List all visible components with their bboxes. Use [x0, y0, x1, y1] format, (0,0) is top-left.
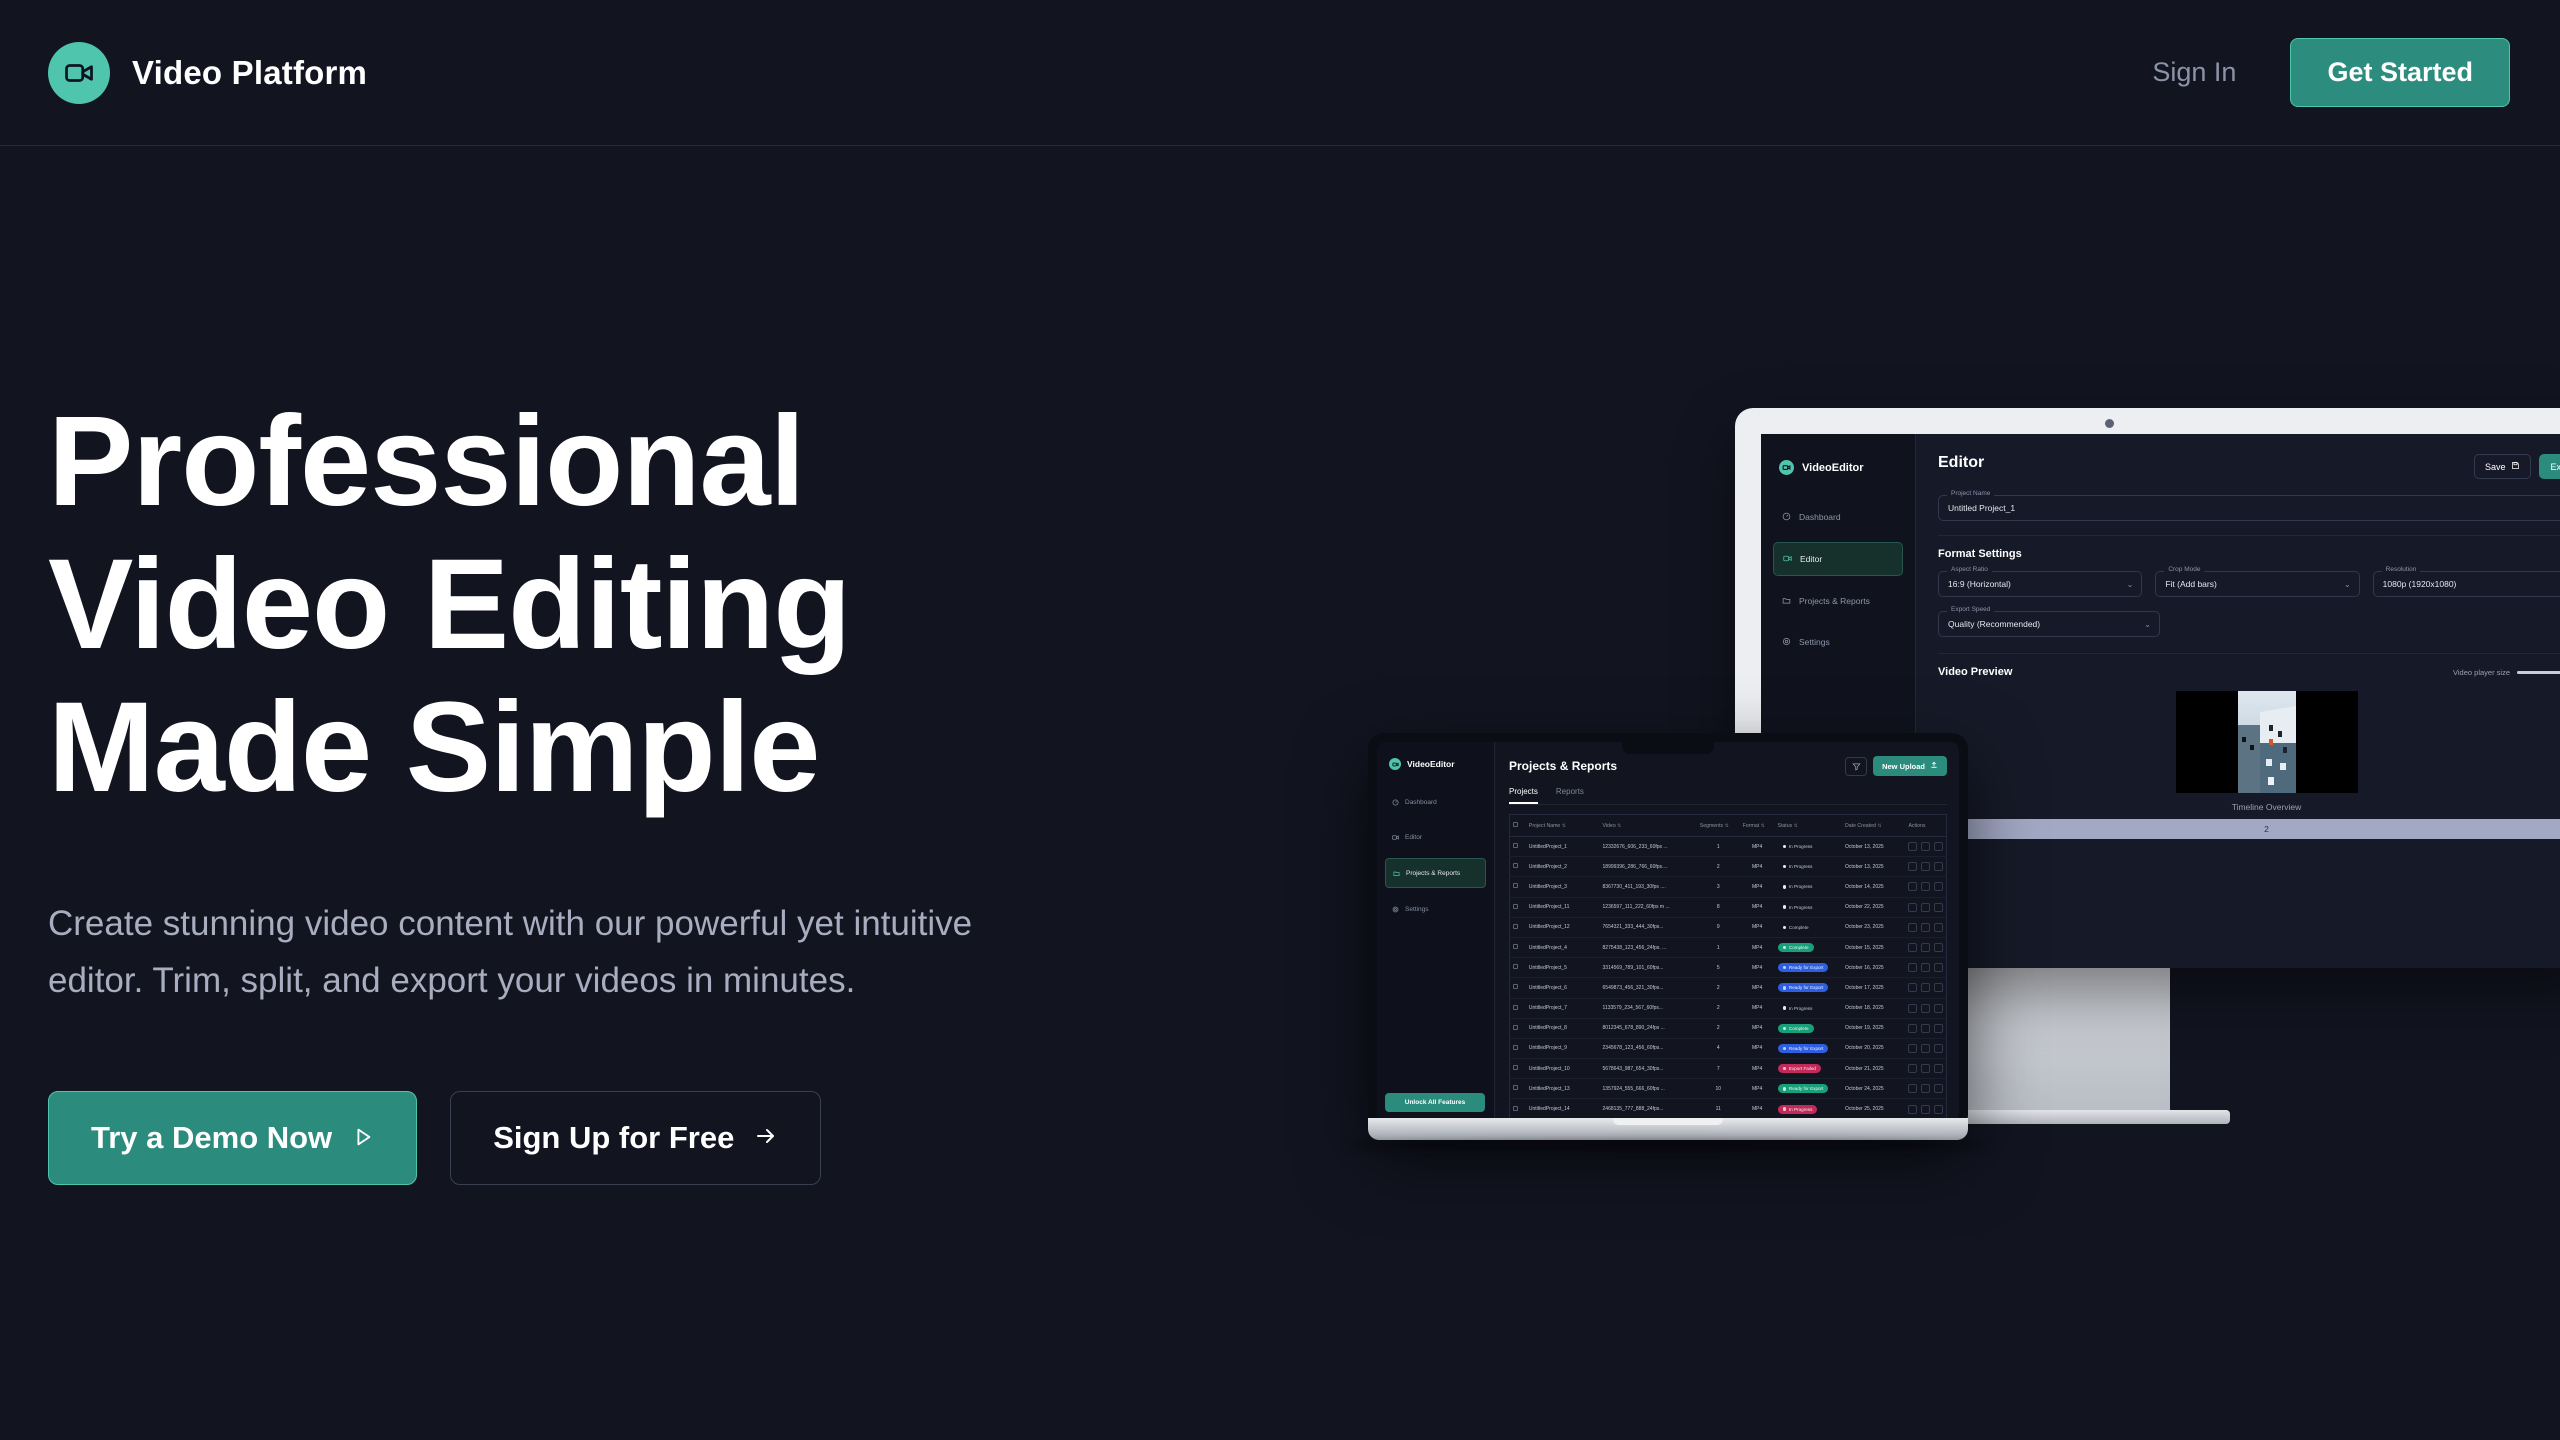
- sign-in-link[interactable]: Sign In: [2152, 57, 2236, 88]
- cell-project-name: UntitledProject_6: [1526, 978, 1600, 998]
- cell-segments: 1: [1697, 937, 1740, 957]
- row-checkbox[interactable]: [1513, 1106, 1518, 1111]
- status-label: In Progress: [1789, 844, 1813, 849]
- timeline-track[interactable]: 2: [1938, 819, 2560, 839]
- delete-icon[interactable]: [1934, 923, 1943, 932]
- edit-icon[interactable]: [1908, 923, 1917, 932]
- edit-icon[interactable]: [1908, 903, 1917, 912]
- floppy-disk-icon: [2511, 461, 2520, 472]
- table-row[interactable]: UntitledProject_92345678_123_456_60fps..…: [1510, 1038, 1947, 1058]
- cell-project-name: UntitledProject_2: [1526, 857, 1600, 877]
- cell-date-created: October 20, 2025: [1842, 1038, 1905, 1058]
- status-label: In Progress: [1789, 1107, 1813, 1112]
- laptop-mockup: VideoEditor Dashboard Editor Projects & …: [1368, 733, 1968, 1131]
- status-badge: In Progress: [1778, 1004, 1818, 1013]
- page-title: Professional Video Editing Made Simple: [48, 390, 1108, 819]
- delete-icon[interactable]: [1934, 862, 1943, 871]
- crop-mode-label: Crop Mode: [2164, 566, 2204, 573]
- video-preview-header: Video Preview Video player size: [1938, 666, 2560, 678]
- cell-format: MP4: [1740, 978, 1775, 998]
- cell-project-name: UntitledProject_12: [1526, 917, 1600, 937]
- project-name-value: Untitled Project_1: [1948, 503, 2015, 513]
- timeline-overview-label: Timeline Overview: [1938, 802, 2560, 812]
- delete-icon[interactable]: [1934, 1064, 1943, 1073]
- cell-format: MP4: [1740, 837, 1775, 857]
- edit-icon[interactable]: [1908, 963, 1917, 972]
- table-row[interactable]: UntitledProject_105678643_987_654_30fps.…: [1510, 1059, 1947, 1079]
- video-preview-title: Video Preview: [1938, 666, 2012, 678]
- column-header[interactable]: Format ⇅: [1740, 815, 1775, 837]
- try-demo-button[interactable]: Try a Demo Now: [48, 1091, 417, 1185]
- column-header[interactable]: Date Created ⇅: [1842, 815, 1905, 837]
- select-all-header[interactable]: [1510, 815, 1526, 837]
- row-checkbox[interactable]: [1513, 924, 1518, 929]
- sidebar-item-editor[interactable]: Editor: [1773, 542, 1903, 576]
- cell-actions[interactable]: [1905, 877, 1946, 897]
- cell-status: Complete: [1775, 917, 1843, 937]
- table-row[interactable]: UntitledProject_71133579_234_567_60fps..…: [1510, 998, 1947, 1018]
- status-label: Complete: [1789, 1026, 1809, 1031]
- player-size-slider[interactable]: [2517, 671, 2560, 674]
- cell-format: MP4: [1740, 877, 1775, 897]
- cell-actions[interactable]: [1905, 978, 1946, 998]
- cell-video: 12332676_606_233_60fps ...: [1600, 837, 1697, 857]
- sidebar-label: Projects & Reports: [1799, 596, 1870, 606]
- new-upload-button[interactable]: New Upload: [1873, 756, 1947, 776]
- video-camera-icon: [1389, 758, 1401, 770]
- resolution-value: 1080p (1920x1080): [2383, 579, 2457, 589]
- row-checkbox-cell[interactable]: [1510, 978, 1526, 998]
- cell-project-name: UntitledProject_4: [1526, 937, 1600, 957]
- try-demo-label: Try a Demo Now: [91, 1120, 332, 1156]
- download-icon[interactable]: [1921, 1064, 1930, 1073]
- cell-segments: 7: [1697, 1059, 1740, 1079]
- cell-project-name: UntitledProject_9: [1526, 1038, 1600, 1058]
- cell-status: In Progress: [1775, 877, 1843, 897]
- row-checkbox-cell[interactable]: [1510, 937, 1526, 957]
- row-checkbox[interactable]: [1513, 1065, 1518, 1070]
- status-label: In Progress: [1789, 884, 1813, 889]
- save-label: Save: [2485, 462, 2506, 472]
- projects-header-actions: New Upload: [1845, 756, 1947, 776]
- cell-format: MP4: [1740, 1099, 1775, 1119]
- row-checkbox-cell[interactable]: [1510, 1099, 1526, 1119]
- cell-actions[interactable]: [1905, 857, 1946, 877]
- sidebar-item-dashboard[interactable]: Dashboard: [1385, 788, 1486, 816]
- gear-icon: [1782, 633, 1791, 651]
- cell-project-name: UntitledProject_3: [1526, 877, 1600, 897]
- video-frame-image: [2238, 691, 2296, 793]
- cell-video: 5678643_987_654_30fps...: [1600, 1059, 1697, 1079]
- sign-up-label: Sign Up for Free: [493, 1120, 734, 1156]
- status-label: In Progress: [1789, 905, 1813, 910]
- cell-format: MP4: [1740, 998, 1775, 1018]
- sort-icon: ⇅: [1725, 823, 1729, 829]
- cell-actions[interactable]: [1905, 917, 1946, 937]
- cell-date-created: October 22, 2025: [1842, 897, 1905, 917]
- row-checkbox-cell[interactable]: [1510, 897, 1526, 917]
- folder-icon: [1782, 592, 1791, 610]
- cell-project-name: UntitledProject_11: [1526, 897, 1600, 917]
- column-header[interactable]: Status ⇅: [1775, 815, 1843, 837]
- cell-actions[interactable]: [1905, 897, 1946, 917]
- cell-status: Complete: [1775, 937, 1843, 957]
- cell-video: 8367730_411_193_30fps ....: [1600, 877, 1697, 897]
- gear-icon: [1392, 900, 1399, 918]
- download-icon[interactable]: [1921, 1084, 1930, 1093]
- sidebar-item-editor[interactable]: Editor: [1385, 823, 1486, 851]
- timeline-value: 2: [2264, 824, 2269, 834]
- row-checkbox[interactable]: [1513, 843, 1518, 848]
- cell-date-created: October 17, 2025: [1842, 978, 1905, 998]
- cell-date-created: October 21, 2025: [1842, 1059, 1905, 1079]
- status-label: Ready for Export: [1789, 965, 1823, 970]
- download-icon[interactable]: [1921, 903, 1930, 912]
- edit-icon[interactable]: [1908, 1064, 1917, 1073]
- cell-format: MP4: [1740, 1079, 1775, 1099]
- cell-video: 3314569_789_101_60fps...: [1600, 958, 1697, 978]
- cell-segments: 5: [1697, 958, 1740, 978]
- project-name-field[interactable]: Project Name Untitled Project_1: [1938, 495, 2560, 521]
- editor-brand-name: VideoEditor: [1802, 462, 1864, 474]
- cell-video: 2468135_777_888_24fps...: [1600, 1099, 1697, 1119]
- cell-format: MP4: [1740, 937, 1775, 957]
- cell-segments: 9: [1697, 917, 1740, 937]
- laptop-app-brand: VideoEditor: [1389, 758, 1486, 770]
- table-row[interactable]: UntitledProject_66549873_456_321_30fps..…: [1510, 978, 1947, 998]
- cell-segments: 2: [1697, 978, 1740, 998]
- table-body: UntitledProject_112332676_606_233_60fps …: [1510, 837, 1947, 1123]
- row-checkbox-cell[interactable]: [1510, 1079, 1526, 1099]
- row-checkbox[interactable]: [1513, 1045, 1518, 1050]
- webcam-dot-icon: [2105, 419, 2114, 428]
- status-badge: In Progress: [1778, 903, 1818, 912]
- sidebar-label: Settings: [1405, 906, 1429, 913]
- row-checkbox[interactable]: [1513, 964, 1518, 969]
- row-checkbox-cell[interactable]: [1510, 837, 1526, 857]
- status-label: Complete: [1789, 925, 1809, 930]
- edit-icon[interactable]: [1908, 1024, 1917, 1033]
- delete-icon[interactable]: [1934, 1004, 1943, 1013]
- aspect-ratio-value: 16:9 (Horizontal): [1948, 579, 2011, 589]
- export-speed-select[interactable]: Export Speed Quality (Recommended) ⌄: [1938, 611, 2160, 637]
- delete-icon[interactable]: [1934, 842, 1943, 851]
- cell-actions[interactable]: [1905, 1018, 1946, 1038]
- laptop-base-notch: [1613, 1118, 1723, 1125]
- cell-status: Export Failed: [1775, 1059, 1843, 1079]
- video-icon: [1783, 550, 1792, 568]
- sidebar-item-dashboard[interactable]: Dashboard: [1773, 501, 1903, 533]
- column-header[interactable]: Project Name ⇅: [1526, 815, 1600, 837]
- laptop-brand-name: VideoEditor: [1407, 759, 1455, 769]
- save-button[interactable]: Save: [2474, 454, 2532, 479]
- row-checkbox-cell[interactable]: [1510, 877, 1526, 897]
- download-icon[interactable]: [1921, 1105, 1930, 1114]
- new-upload-label: New Upload: [1882, 762, 1925, 771]
- cell-video: 6549873_456_321_30fps...: [1600, 978, 1697, 998]
- cell-project-name: UntitledProject_14: [1526, 1099, 1600, 1119]
- cell-segments: 2: [1697, 998, 1740, 1018]
- status-badge: Ready for Export: [1778, 983, 1829, 992]
- video-camera-icon: [1779, 460, 1794, 475]
- delete-icon[interactable]: [1934, 963, 1943, 972]
- export-button[interactable]: Exp: [2539, 454, 2560, 479]
- cell-project-name: UntitledProject_10: [1526, 1059, 1600, 1079]
- delete-icon[interactable]: [1934, 1044, 1943, 1053]
- cell-actions[interactable]: [1905, 1079, 1946, 1099]
- table-row[interactable]: UntitledProject_53314569_789_101_60fps..…: [1510, 958, 1947, 978]
- row-checkbox-cell[interactable]: [1510, 1038, 1526, 1058]
- row-checkbox[interactable]: [1513, 944, 1518, 949]
- export-speed-label: Export Speed: [1947, 606, 1994, 613]
- cell-date-created: October 16, 2025: [1842, 958, 1905, 978]
- row-checkbox[interactable]: [1513, 1085, 1518, 1090]
- download-icon[interactable]: [1921, 882, 1930, 891]
- cell-actions[interactable]: [1905, 1059, 1946, 1079]
- table-row[interactable]: UntitledProject_218999396_286_766_60fps.…: [1510, 857, 1947, 877]
- brand[interactable]: Video Platform: [48, 42, 367, 104]
- sidebar-item-settings[interactable]: Settings: [1385, 895, 1486, 923]
- laptop-base: [1368, 1118, 1968, 1140]
- gauge-icon: [1782, 508, 1791, 526]
- unlock-all-features-button[interactable]: Unlock All Features: [1385, 1093, 1485, 1112]
- cell-project-name: UntitledProject_13: [1526, 1079, 1600, 1099]
- status-badge: Ready for Export: [1778, 1084, 1829, 1093]
- cell-date-created: October 25, 2025: [1842, 1099, 1905, 1119]
- cell-actions[interactable]: [1905, 998, 1946, 1018]
- cell-status: In Progress: [1775, 857, 1843, 877]
- crop-mode-select[interactable]: Crop Mode Fit (Add bars) ⌄: [2155, 571, 2359, 597]
- row-checkbox[interactable]: [1513, 984, 1518, 989]
- sidebar-label: Editor: [1405, 834, 1422, 841]
- edit-icon[interactable]: [1908, 1044, 1917, 1053]
- table-row[interactable]: UntitledProject_142468135_777_888_24fps.…: [1510, 1099, 1947, 1119]
- download-icon[interactable]: [1921, 862, 1930, 871]
- cell-status: Ready for Export: [1775, 1079, 1843, 1099]
- column-header[interactable]: Video ⇅: [1600, 815, 1697, 837]
- row-checkbox[interactable]: [1513, 863, 1518, 868]
- cell-format: MP4: [1740, 857, 1775, 877]
- table-row[interactable]: UntitledProject_131357924_555_666_60fps …: [1510, 1079, 1947, 1099]
- cell-video: 2345678_123_456_60fps...: [1600, 1038, 1697, 1058]
- edit-icon[interactable]: [1908, 1084, 1917, 1093]
- sidebar-label: Dashboard: [1799, 512, 1841, 522]
- download-icon[interactable]: [1921, 842, 1930, 851]
- chevron-down-icon: ⌄: [2344, 580, 2351, 589]
- cell-format: MP4: [1740, 958, 1775, 978]
- column-header[interactable]: Segments ⇅: [1697, 815, 1740, 837]
- cell-date-created: October 18, 2025: [1842, 998, 1905, 1018]
- edit-icon[interactable]: [1908, 983, 1917, 992]
- delete-icon[interactable]: [1934, 1024, 1943, 1033]
- export-speed-value: Quality (Recommended): [1948, 619, 2040, 629]
- chevron-down-icon: ⌄: [2144, 620, 2151, 629]
- sidebar-item-projects-reports[interactable]: Projects & Reports: [1385, 858, 1486, 888]
- download-icon[interactable]: [1921, 923, 1930, 932]
- resolution-select[interactable]: Resolution 1080p (1920x1080) ⌄: [2373, 571, 2560, 597]
- folder-icon: [1393, 864, 1400, 882]
- row-checkbox-cell[interactable]: [1510, 1059, 1526, 1079]
- cell-actions[interactable]: [1905, 1099, 1946, 1119]
- cell-status: In Progress: [1775, 1099, 1843, 1119]
- edit-icon[interactable]: [1908, 882, 1917, 891]
- delete-icon[interactable]: [1934, 903, 1943, 912]
- sort-icon: ⇅: [1794, 823, 1798, 829]
- row-checkbox-cell[interactable]: [1510, 1018, 1526, 1038]
- player-size-control[interactable]: Video player size: [2453, 668, 2560, 677]
- format-settings-title: Format Settings: [1938, 548, 2560, 560]
- aspect-ratio-label: Aspect Ratio: [1947, 566, 1992, 573]
- sort-icon: ⇅: [1877, 823, 1881, 829]
- cell-date-created: October 13, 2025: [1842, 837, 1905, 857]
- cell-video: 1236597_111_222_60fps m ...: [1600, 897, 1697, 917]
- delete-icon[interactable]: [1934, 1105, 1943, 1114]
- site-header: Video Platform Sign In Get Started: [0, 0, 2560, 146]
- table-row[interactable]: UntitledProject_48275438_123_456_24fps. …: [1510, 937, 1947, 957]
- video-icon: [1392, 828, 1399, 846]
- row-checkbox[interactable]: [1513, 1005, 1518, 1010]
- table-row[interactable]: UntitledProject_38367730_411_193_30fps .…: [1510, 877, 1947, 897]
- sort-icon: ⇅: [1761, 823, 1765, 829]
- delete-icon[interactable]: [1934, 882, 1943, 891]
- cell-format: MP4: [1740, 1038, 1775, 1058]
- cell-actions[interactable]: [1905, 1038, 1946, 1058]
- cell-video: 1357924_555_666_60fps ...: [1600, 1079, 1697, 1099]
- project-name-label: Project Name: [1947, 490, 1994, 497]
- sort-icon: ⇅: [1617, 823, 1621, 829]
- row-checkbox-cell[interactable]: [1510, 998, 1526, 1018]
- cell-date-created: October 19, 2025: [1842, 1018, 1905, 1038]
- row-checkbox[interactable]: [1513, 1025, 1518, 1030]
- download-icon[interactable]: [1921, 983, 1930, 992]
- laptop-notch: [1622, 742, 1714, 754]
- download-icon[interactable]: [1921, 1024, 1930, 1033]
- edit-icon[interactable]: [1908, 943, 1917, 952]
- cell-status: Ready for Export: [1775, 958, 1843, 978]
- projects-tabs: Projects Reports: [1509, 787, 1947, 805]
- filter-icon[interactable]: [1845, 757, 1867, 776]
- cell-status: Ready for Export: [1775, 1038, 1843, 1058]
- brand-name: Video Platform: [132, 54, 367, 92]
- sidebar-label: Projects & Reports: [1406, 870, 1460, 877]
- cell-video: 18999396_286_766_60fps....: [1600, 857, 1697, 877]
- video-player[interactable]: [2176, 691, 2358, 793]
- row-checkbox[interactable]: [1513, 883, 1518, 888]
- cell-date-created: October 23, 2025: [1842, 917, 1905, 937]
- table-row[interactable]: UntitledProject_112332676_606_233_60fps …: [1510, 837, 1947, 857]
- hero-subtitle: Create stunning video content with our p…: [48, 895, 1108, 1009]
- row-checkbox-cell[interactable]: [1510, 917, 1526, 937]
- status-label: Ready for Export: [1789, 985, 1823, 990]
- download-icon[interactable]: [1921, 1004, 1930, 1013]
- cell-date-created: October 24, 2025: [1842, 1079, 1905, 1099]
- laptop-screen: VideoEditor Dashboard Editor Projects & …: [1377, 742, 1959, 1122]
- cell-status: In Progress: [1775, 897, 1843, 917]
- projects-main: Projects & Reports New Upload: [1495, 742, 1959, 1122]
- editor-app-brand: VideoEditor: [1779, 460, 1903, 475]
- status-label: Complete: [1789, 945, 1809, 950]
- cell-format: MP4: [1740, 897, 1775, 917]
- cell-project-name: UntitledProject_8: [1526, 1018, 1600, 1038]
- delete-icon[interactable]: [1934, 1084, 1943, 1093]
- aspect-ratio-select[interactable]: Aspect Ratio 16:9 (Horizontal) ⌄: [1938, 571, 2142, 597]
- projects-page-title: Projects & Reports: [1509, 759, 1617, 773]
- download-icon[interactable]: [1921, 1044, 1930, 1053]
- hero-section: Professional Video Editing Made Simple C…: [48, 390, 1108, 1185]
- sidebar-item-settings[interactable]: Settings: [1773, 626, 1903, 658]
- cell-actions[interactable]: [1905, 937, 1946, 957]
- status-badge: Complete: [1778, 943, 1814, 952]
- row-checkbox[interactable]: [1513, 904, 1518, 909]
- cell-project-name: UntitledProject_1: [1526, 837, 1600, 857]
- cell-segments: 2: [1697, 857, 1740, 877]
- status-label: In Progress: [1789, 864, 1813, 869]
- status-label: Ready for Export: [1789, 1086, 1823, 1091]
- cell-status: In Progress: [1775, 998, 1843, 1018]
- crop-mode-value: Fit (Add bars): [2165, 579, 2217, 589]
- table-row[interactable]: UntitledProject_88012345_678_890_24fps .…: [1510, 1018, 1947, 1038]
- row-checkbox-cell[interactable]: [1510, 857, 1526, 877]
- edit-icon[interactable]: [1908, 862, 1917, 871]
- status-badge: Export Failed: [1778, 1064, 1821, 1073]
- play-icon: [352, 1120, 374, 1156]
- cell-project-name: UntitledProject_5: [1526, 958, 1600, 978]
- arrow-right-icon: [754, 1120, 778, 1156]
- download-icon[interactable]: [1921, 963, 1930, 972]
- edit-icon[interactable]: [1908, 1105, 1917, 1114]
- status-badge: Ready for Export: [1778, 963, 1829, 972]
- projects-sidebar: VideoEditor Dashboard Editor Projects & …: [1377, 742, 1495, 1122]
- sidebar-item-projects-reports[interactable]: Projects & Reports: [1773, 585, 1903, 617]
- get-started-button[interactable]: Get Started: [2290, 38, 2510, 107]
- column-header[interactable]: Actions: [1905, 815, 1946, 837]
- edit-icon[interactable]: [1908, 1004, 1917, 1013]
- delete-icon[interactable]: [1934, 943, 1943, 952]
- status-label: Export Failed: [1789, 1066, 1816, 1071]
- edit-icon[interactable]: [1908, 842, 1917, 851]
- chevron-down-icon: ⌄: [2127, 580, 2134, 589]
- status-badge: In Progress: [1778, 882, 1818, 891]
- cell-format: MP4: [1740, 1018, 1775, 1038]
- editor-header-actions: Save Exp: [2474, 454, 2560, 479]
- cell-status: Complete: [1775, 1018, 1843, 1038]
- download-icon[interactable]: [1921, 943, 1930, 952]
- status-badge: In Progress: [1778, 1105, 1818, 1114]
- tab-reports[interactable]: Reports: [1556, 787, 1584, 804]
- divider: [1938, 653, 2560, 654]
- select-all-checkbox[interactable]: [1513, 822, 1518, 827]
- sidebar-label: Settings: [1799, 637, 1830, 647]
- projects-header: Projects & Reports New Upload: [1509, 756, 1947, 776]
- editor-main: Editor Save Exp Project Name Unti: [1916, 434, 2560, 968]
- sign-up-button[interactable]: Sign Up for Free: [450, 1091, 821, 1185]
- row-checkbox-cell[interactable]: [1510, 958, 1526, 978]
- table-row[interactable]: UntitledProject_111236597_111_222_60fps …: [1510, 897, 1947, 917]
- cell-actions[interactable]: [1905, 958, 1946, 978]
- tab-projects[interactable]: Projects: [1509, 787, 1538, 804]
- header-actions: Sign In Get Started: [2152, 38, 2510, 107]
- status-label: In Progress: [1789, 1006, 1813, 1011]
- cell-segments: 2: [1697, 1018, 1740, 1038]
- delete-icon[interactable]: [1934, 983, 1943, 992]
- table-row[interactable]: UntitledProject_127654321_333_444_30fps.…: [1510, 917, 1947, 937]
- cell-actions[interactable]: [1905, 837, 1946, 857]
- sidebar-label: Dashboard: [1405, 799, 1437, 806]
- status-badge: In Progress: [1778, 862, 1818, 871]
- cell-format: MP4: [1740, 917, 1775, 937]
- status-label: Ready for Export: [1789, 1046, 1823, 1051]
- laptop-lid: VideoEditor Dashboard Editor Projects & …: [1368, 733, 1968, 1131]
